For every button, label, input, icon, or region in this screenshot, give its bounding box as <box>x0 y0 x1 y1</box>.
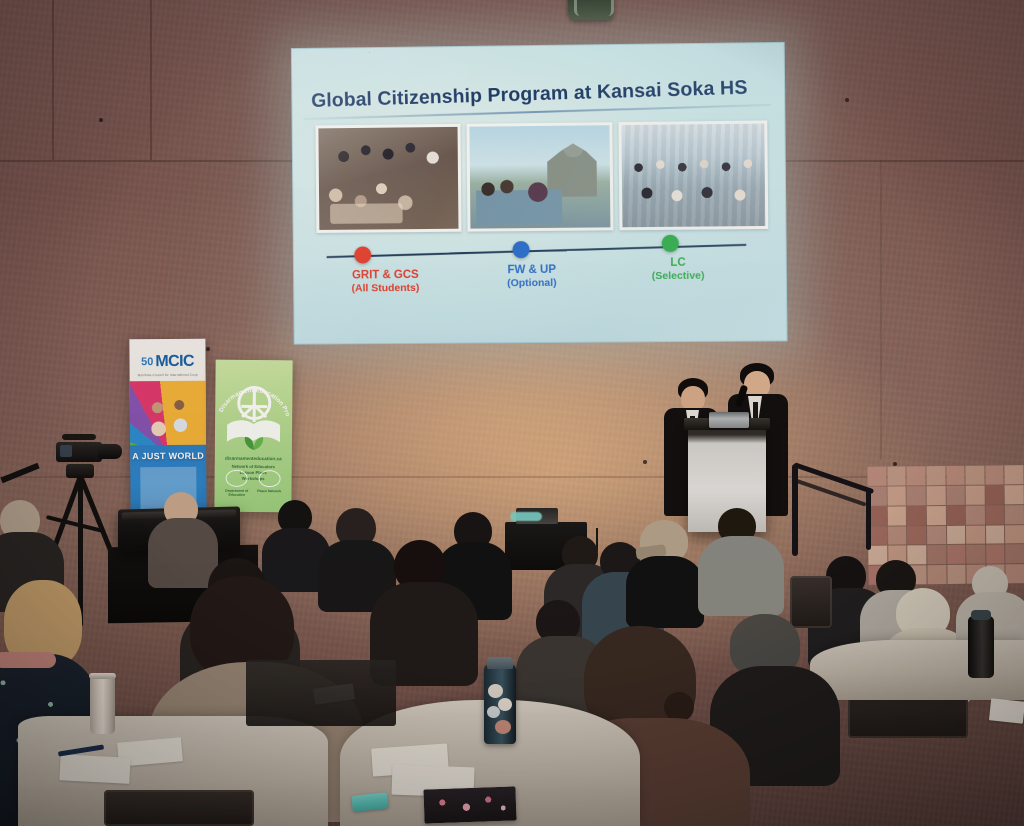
timeline-dot-fw <box>512 241 529 258</box>
stair-handrail-icon <box>792 448 884 556</box>
artwork-tile <box>946 486 965 505</box>
timeline-label-lc: LC (Selective) <box>598 255 759 283</box>
artwork-tile <box>926 466 945 485</box>
handout-paper <box>989 698 1024 723</box>
wall-seam <box>52 0 54 160</box>
artwork-tile <box>985 465 1004 484</box>
timeline-label-grit: GRIT & GCS (All Students) <box>293 267 478 295</box>
artwork-tile <box>1005 485 1024 504</box>
collar <box>0 652 56 668</box>
artwork-tile <box>1006 564 1024 583</box>
artwork-tile <box>927 565 946 584</box>
podium-laptop-icon <box>709 412 749 428</box>
artwork-tile <box>966 505 985 524</box>
dep-seals: Department of Education Peace Network <box>220 470 285 507</box>
timeline-dot-lc <box>662 235 679 252</box>
black-water-bottle <box>968 616 994 678</box>
slide-photo-row <box>315 120 768 234</box>
artwork-tile <box>946 466 965 485</box>
artwork-tile <box>985 485 1004 504</box>
dep-seal: Department of Education <box>224 470 250 498</box>
mcic-tagline: Manitoba Council for International Coope… <box>138 373 198 377</box>
artwork-tile <box>966 525 985 544</box>
leaf-icon <box>242 436 264 450</box>
conference-photo-scene: Global Citizenship Program at Kansai Sok… <box>0 0 1024 826</box>
wall-seam <box>150 0 152 160</box>
artwork-tile <box>946 505 965 524</box>
artwork-tile <box>887 486 906 505</box>
artwork-tile <box>907 526 926 545</box>
artwork-tile <box>927 545 946 564</box>
mcic-wordmark: MCIC <box>155 354 194 370</box>
artwork-tile <box>927 506 946 525</box>
artwork-tile <box>1005 505 1024 524</box>
mcic-anniversary: 50 <box>141 357 153 368</box>
wall-mark <box>206 347 210 351</box>
artwork-tile <box>927 526 946 545</box>
timeline-label-fw: FW & UP (Optional) <box>452 262 612 290</box>
artwork-tile <box>907 486 926 505</box>
wall-mark <box>893 462 897 466</box>
artwork-tile <box>888 526 907 545</box>
banner-disarmament-education: Disarmament Education Program disarmamen… <box>214 360 292 513</box>
artwork-tile <box>887 466 906 485</box>
wall-mark <box>99 118 103 122</box>
projection-screen: Global Citizenship Program at Kansai Sok… <box>291 42 788 345</box>
mcic-photo <box>130 381 206 446</box>
slide-photo-classroom <box>315 124 461 233</box>
artwork-tile <box>966 485 985 504</box>
artwork-tile <box>947 565 966 584</box>
wall-mark <box>845 98 849 102</box>
wall-seam <box>880 160 882 460</box>
artwork-tile <box>986 505 1005 524</box>
artwork-tile <box>907 546 926 565</box>
artwork-tile <box>966 466 985 485</box>
chair <box>790 576 832 628</box>
artwork-tile <box>907 466 926 485</box>
artwork-tile <box>1005 525 1024 544</box>
handout-paper <box>59 754 130 784</box>
av-cable <box>510 512 542 521</box>
wall-mark <box>643 460 647 464</box>
green-ceiling-light-icon <box>568 0 614 20</box>
artwork-tile <box>926 486 945 505</box>
peace-symbol-icon <box>237 386 271 420</box>
artwork-tile <box>1005 465 1024 484</box>
dep-url: disarmamenteducation.ca <box>219 456 288 462</box>
chair <box>104 790 254 826</box>
artwork-tile <box>907 506 926 525</box>
slide-photo-lecture <box>618 120 768 230</box>
insulated-tumbler <box>90 676 115 734</box>
slide-photo-fieldwork <box>466 122 613 231</box>
artwork-tile <box>966 545 985 564</box>
water-bottle-with-stickers <box>484 664 516 744</box>
artwork-tile <box>986 545 1005 564</box>
artwork-tile <box>947 545 966 564</box>
dep-seal: Peace Network <box>256 470 282 494</box>
artwork-tile <box>1006 545 1024 564</box>
mcic-slogan: A JUST WORLD <box>130 451 206 462</box>
table-edge <box>246 660 396 726</box>
floral-notebook <box>423 786 516 823</box>
artwork-tile <box>947 525 966 544</box>
timeline-dot-grit <box>354 246 371 263</box>
artwork-tile <box>986 525 1005 544</box>
artwork-tile <box>887 506 906 525</box>
